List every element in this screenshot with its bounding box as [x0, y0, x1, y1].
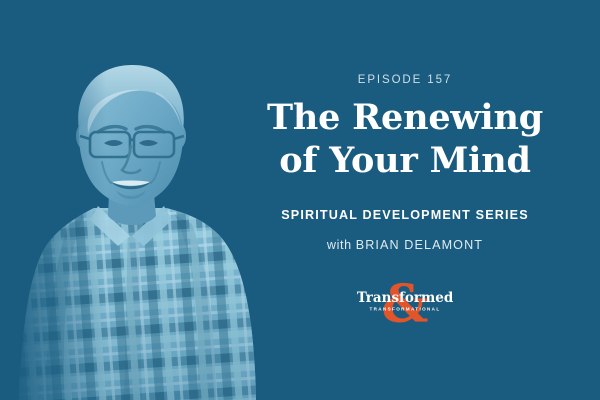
- host-name: BRIAN DELAMONT: [356, 238, 483, 252]
- episode-cover-card: EPISODE 157 The Renewing of Your Mind SP…: [0, 0, 600, 400]
- episode-title-line-1: The Renewing: [267, 97, 543, 138]
- transformed-logo: & Transformed TRANSFORMATIONAL: [357, 276, 453, 328]
- logo-tagline: TRANSFORMATIONAL: [369, 307, 440, 312]
- series-label: SPIRITUAL DEVELOPMENT SERIES: [240, 208, 570, 222]
- logo-wordmark: Transformed: [357, 290, 453, 306]
- episode-title: The Renewing of Your Mind: [240, 97, 570, 182]
- with-word: with: [327, 238, 352, 252]
- host-portrait: [6, 40, 271, 400]
- portrait-bottom-fade: [6, 40, 271, 400]
- transformed-logo-mark: & Transformed TRANSFORMATIONAL: [357, 276, 453, 328]
- host-credit-line: withBRIAN DELAMONT: [240, 238, 570, 252]
- episode-text-block: EPISODE 157 The Renewing of Your Mind SP…: [240, 74, 570, 328]
- episode-title-line-2: of Your Mind: [240, 140, 570, 183]
- host-portrait-illustration: [6, 40, 271, 400]
- episode-number-label: EPISODE 157: [240, 74, 570, 86]
